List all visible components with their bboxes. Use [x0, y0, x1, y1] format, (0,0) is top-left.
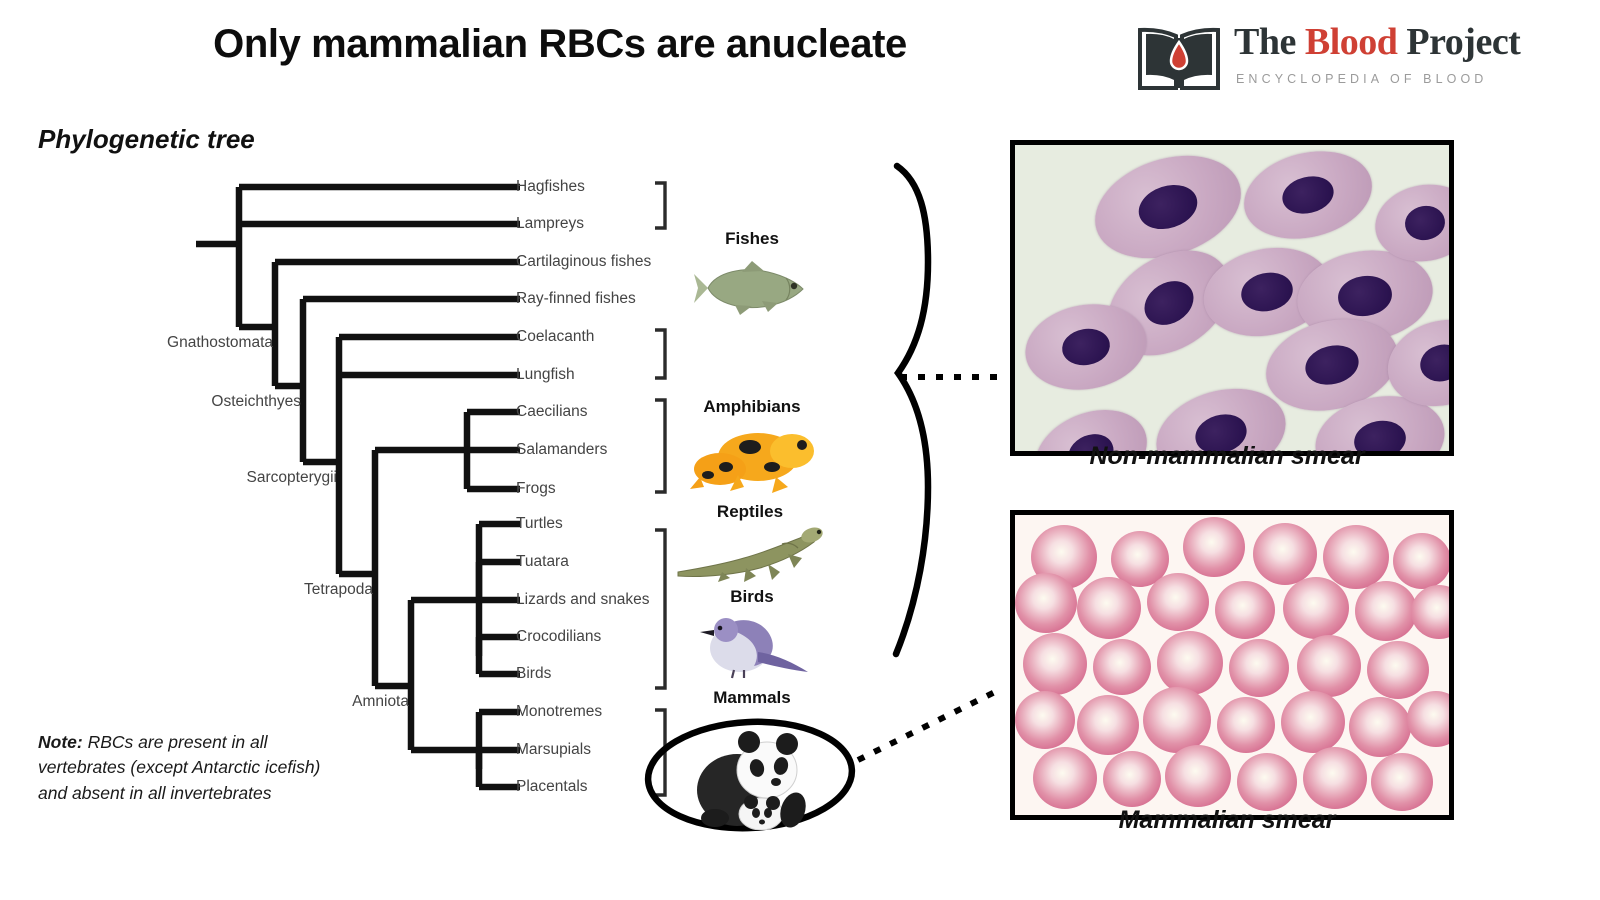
bird-photo: [692, 612, 812, 680]
rbc-nucleus: [1238, 268, 1296, 316]
anucleate-rbc: [1393, 533, 1451, 589]
anucleate-rbc: [1183, 517, 1245, 577]
open-book-icon: [1138, 24, 1220, 94]
tree-node-label: Sarcopterygii: [79, 469, 337, 487]
rbc-nucleus: [1402, 203, 1447, 243]
tree-tip-label: Hagfishes: [516, 178, 585, 196]
frog-photo: [680, 423, 820, 497]
group-label: Birds: [730, 587, 773, 607]
anucleate-rbc: [1157, 631, 1223, 695]
fish-photo: [690, 258, 810, 318]
panda-photo: [675, 718, 825, 830]
anucleate-rbc: [1297, 635, 1361, 697]
anucleate-rbc: [1411, 585, 1454, 639]
anucleate-rbc: [1217, 697, 1275, 753]
note-lead: Note:: [38, 732, 83, 752]
group-label: Reptiles: [717, 502, 783, 522]
logo-the: The: [1234, 21, 1305, 63]
tree-tip-label: Birds: [516, 665, 551, 683]
nucleated-rbc: [1235, 140, 1381, 251]
logo-project: Project: [1397, 21, 1520, 63]
rbc-nucleus: [1133, 178, 1203, 237]
group-label: Fishes: [725, 229, 779, 249]
anucleate-rbc: [1323, 525, 1389, 589]
tree-tip-label: Salamanders: [516, 441, 607, 459]
anucleate-rbc: [1077, 695, 1139, 755]
anucleate-rbc: [1033, 747, 1097, 809]
group-label: Mammals: [713, 688, 790, 708]
panel-caption: Mammalian smear: [1119, 806, 1336, 835]
curly-brace-nonmammalian: [896, 166, 928, 654]
rbc-nucleus: [1136, 272, 1202, 334]
anucleate-rbc: [1023, 633, 1087, 695]
dotted-connector-bottom: [858, 688, 1003, 760]
rbc-nucleus: [1278, 171, 1337, 219]
anucleate-rbc: [1147, 573, 1209, 631]
non-mammalian-smear-image: [1010, 140, 1454, 456]
rbc-nucleus: [1059, 325, 1113, 370]
tree-tip-label: Marsupials: [516, 741, 591, 759]
anucleate-rbc: [1355, 581, 1417, 641]
tree-tip-label: Ray-finned fishes: [516, 290, 636, 308]
note-text: Note: RBCs are present in all vertebrate…: [38, 730, 328, 806]
anucleate-rbc: [1077, 577, 1141, 639]
anucleate-rbc: [1283, 577, 1349, 639]
rbc-nucleus: [1416, 339, 1454, 387]
anucleate-rbc: [1143, 687, 1211, 753]
tree-node-label: Amniota: [151, 693, 409, 711]
anucleate-rbc: [1229, 639, 1289, 697]
tree-tip-label: Frogs: [516, 480, 556, 498]
tree-tip-label: Caecilians: [516, 403, 588, 421]
tree-node-label: Tetrapoda: [115, 581, 373, 599]
anucleate-rbc: [1015, 573, 1077, 633]
tree-tip-label: Lampreys: [516, 215, 584, 233]
tree-tip-label: Cartilaginous fishes: [516, 253, 651, 271]
logo-brand-text: The Blood Project: [1234, 20, 1520, 64]
lizard-photo: [672, 522, 832, 588]
anucleate-rbc: [1093, 639, 1151, 695]
logo-tagline: ENCYCLOPEDIA OF BLOOD: [1236, 72, 1487, 86]
anucleate-rbc: [1253, 523, 1317, 585]
anucleate-rbc: [1215, 581, 1275, 639]
tree-tip-label: Coelacanth: [516, 328, 594, 346]
tree-node-label: Gnathostomata: [15, 334, 273, 352]
anucleate-rbc: [1407, 691, 1454, 747]
tree-node-label: Osteichthyes: [43, 393, 301, 411]
blood-project-logo: The Blood Project ENCYCLOPEDIA OF BLOOD: [1138, 22, 1518, 100]
rbc-nucleus: [1301, 340, 1362, 391]
tree-tip-label: Lizards and snakes: [516, 591, 650, 609]
group-label: Amphibians: [703, 397, 800, 417]
anucleate-rbc: [1303, 747, 1367, 809]
anucleate-rbc: [1103, 751, 1161, 807]
rbc-nucleus: [1335, 273, 1394, 320]
tree-tip-label: Tuatara: [516, 553, 569, 571]
anucleate-rbc: [1165, 745, 1231, 807]
tree-tip-label: Crocodilians: [516, 628, 601, 646]
anucleate-rbc: [1367, 641, 1429, 699]
tree-tip-label: Lungfish: [516, 366, 575, 384]
logo-blood: Blood: [1305, 21, 1398, 63]
anucleate-rbc: [1281, 691, 1345, 753]
tree-tip-label: Turtles: [516, 515, 563, 533]
anucleate-rbc: [1237, 753, 1297, 811]
anucleate-rbc: [1015, 691, 1075, 749]
panel-caption: Non-mammalian smear: [1089, 442, 1364, 471]
anucleate-rbc: [1371, 753, 1433, 811]
tree-tip-label: Monotremes: [516, 703, 602, 721]
tree-tip-label: Placentals: [516, 778, 588, 796]
anucleate-rbc: [1349, 697, 1411, 757]
mammalian-smear-image: [1010, 510, 1454, 820]
